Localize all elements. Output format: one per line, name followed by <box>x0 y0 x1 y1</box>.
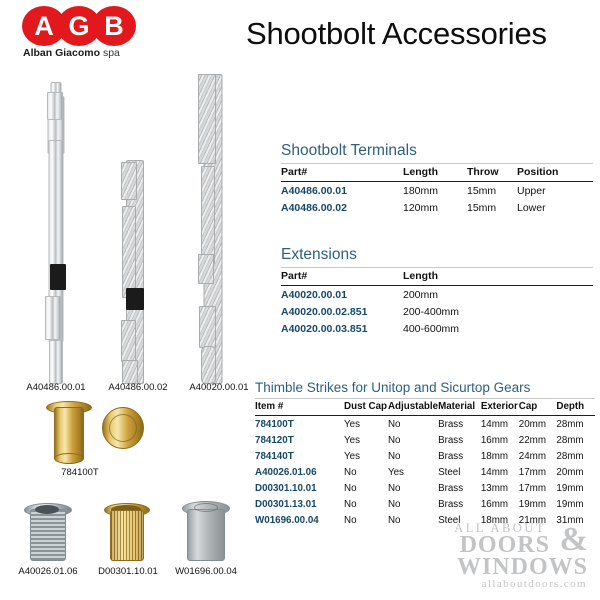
thimble-image-d00301 <box>104 503 148 561</box>
table-header-row: Part# Length Throw Position <box>281 164 593 182</box>
cell-position: Lower <box>517 199 593 216</box>
table-row: 784120T Yes No Brass 16mm 22mm 28mm <box>255 432 595 448</box>
agb-logo-tagline: Alban Giacomo spa <box>23 47 147 59</box>
cell-depth: 19mm <box>556 496 595 512</box>
cell-cap: 19mm <box>519 496 557 512</box>
cell-depth: 20mm <box>556 464 595 480</box>
cell-item: 784100T <box>255 416 344 433</box>
thimble-caption-784100t: 784100T <box>50 467 110 478</box>
watermark-ampersand: & <box>560 523 588 557</box>
table-row: 784140T Yes No Brass 18mm 24mm 28mm <box>255 448 595 464</box>
cell-adjustable: No <box>388 448 438 464</box>
cell-exterior: 14mm <box>481 416 519 433</box>
allaboutdoors-watermark: ALL ABOUT DOORS & WINDOWS allaboutdoors.… <box>414 520 590 592</box>
cell-depth: 28mm <box>556 448 595 464</box>
section-extensions: Extensions Part# Length A40020.00.01 200… <box>281 246 593 337</box>
cell-cap: 22mm <box>519 432 557 448</box>
table-row: D00301.13.01 No No Brass 16mm 19mm 19mm <box>255 496 595 512</box>
page-header: A G B Alban Giacomo spa Shootbolt Access… <box>0 0 600 68</box>
cell-partno: A40486.00.02 <box>281 199 403 216</box>
shootbolt-caption-2: A40486.00.02 <box>92 382 184 393</box>
agb-logo-letter-b: B <box>92 6 136 46</box>
cell-exterior: 14mm <box>481 464 519 480</box>
cell-dustcap: No <box>344 512 388 528</box>
thimble-image-784100t <box>46 401 90 463</box>
agb-tagline-bold: Alban Giacomo <box>23 47 100 59</box>
cell-adjustable: No <box>388 496 438 512</box>
table-row: A40486.00.01 180mm 15mm Upper <box>281 182 593 200</box>
cell-item: A40026.01.06 <box>255 464 344 480</box>
cell-adjustable: No <box>388 480 438 496</box>
cell-exterior: 16mm <box>481 432 519 448</box>
cell-adjustable: No <box>388 432 438 448</box>
shootbolt-image-1 <box>28 82 84 382</box>
cell-length: 200mm <box>403 286 593 304</box>
cell-length: 180mm <box>403 182 467 200</box>
cell-item: W01696.00.04 <box>255 512 344 528</box>
column-header-adjustable: Adjustable <box>388 399 438 416</box>
cell-dustcap: No <box>344 464 388 480</box>
cell-material: Brass <box>438 416 481 433</box>
column-header-throw: Throw <box>467 164 517 182</box>
cell-exterior: 13mm <box>481 480 519 496</box>
column-header-length: Length <box>403 164 467 182</box>
cell-material: Brass <box>438 448 481 464</box>
table-row: A40020.00.01 200mm <box>281 286 593 304</box>
cell-item: D00301.10.01 <box>255 480 344 496</box>
table-row: 784100T Yes No Brass 14mm 20mm 28mm <box>255 416 595 433</box>
table-row: A40026.01.06 No Yes Steel 14mm 17mm 20mm <box>255 464 595 480</box>
table-shootbolt-terminals: Part# Length Throw Position A40486.00.01… <box>281 163 593 216</box>
cell-material: Brass <box>438 496 481 512</box>
cell-throw: 15mm <box>467 199 517 216</box>
column-header-partno: Part# <box>281 164 403 182</box>
thimble-caption-a40026: A40026.01.06 <box>10 566 86 577</box>
thimble-caption-w01696: W01696.00.04 <box>168 566 244 577</box>
column-header-length: Length <box>403 268 593 286</box>
watermark-line-windows: WINDOWS <box>457 555 588 579</box>
cell-length: 120mm <box>403 199 467 216</box>
cell-cap: 17mm <box>519 480 557 496</box>
cell-exterior: 16mm <box>481 496 519 512</box>
cell-cap: 24mm <box>519 448 557 464</box>
shootbolt-figure-group: A40486.00.01 A40486.00.02 A40020.00.01 <box>10 70 255 390</box>
cell-adjustable: No <box>388 416 438 433</box>
cell-depth: 28mm <box>556 432 595 448</box>
column-header-material: Material <box>438 399 481 416</box>
cell-dustcap: Yes <box>344 448 388 464</box>
section-title-thimbles: Thimble Strikes for Unitop and Sicurtop … <box>255 380 595 395</box>
section-title-terminals: Shootbolt Terminals <box>281 142 593 160</box>
agb-logo: A G B Alban Giacomo spa <box>22 6 142 64</box>
cell-depth: 19mm <box>556 480 595 496</box>
column-header-depth: Depth <box>556 399 595 416</box>
shootbolt-image-2 <box>110 160 160 382</box>
cell-dustcap: Yes <box>344 416 388 433</box>
cell-throw: 15mm <box>467 182 517 200</box>
cell-length: 400-600mm <box>403 320 593 337</box>
section-title-extensions: Extensions <box>281 246 593 264</box>
agb-tagline-light: spa <box>103 47 120 59</box>
shootbolt-caption-1: A40486.00.01 <box>10 382 102 393</box>
cell-cap: 17mm <box>519 464 557 480</box>
table-header-row: Part# Length <box>281 268 593 286</box>
column-header-position: Position <box>517 164 593 182</box>
table-row: D00301.10.01 No No Brass 13mm 17mm 19mm <box>255 480 595 496</box>
cell-partno: A40020.00.02.851 <box>281 303 403 320</box>
thimble-caption-d00301: D00301.10.01 <box>90 566 166 577</box>
cell-dustcap: No <box>344 496 388 512</box>
column-header-item: Item # <box>255 399 344 416</box>
cell-length: 200-400mm <box>403 303 593 320</box>
page-title: Shootbolt Accessories <box>246 16 547 52</box>
cell-adjustable: Yes <box>388 464 438 480</box>
table-row: A40020.00.03.851 400-600mm <box>281 320 593 337</box>
column-header-exterior: Exterior <box>481 399 519 416</box>
section-thimble-strikes: Thimble Strikes for Unitop and Sicurtop … <box>255 380 595 528</box>
cell-partno: A40486.00.01 <box>281 182 403 200</box>
cell-material: Brass <box>438 432 481 448</box>
watermark-website: allaboutdoors.com <box>482 579 587 590</box>
shootbolt-image-3 <box>188 74 238 382</box>
cell-material: Brass <box>438 480 481 496</box>
cell-exterior: 18mm <box>481 448 519 464</box>
cell-position: Upper <box>517 182 593 200</box>
cell-item: D00301.13.01 <box>255 496 344 512</box>
cell-partno: A40020.00.03.851 <box>281 320 403 337</box>
cell-cap: 20mm <box>519 416 557 433</box>
agb-logo-circles: A G B <box>22 6 142 46</box>
column-header-cap: Cap <box>519 399 557 416</box>
table-thimble-strikes: Item # Dust Cap Adjustable Material Exte… <box>255 398 595 528</box>
table-row: A40020.00.02.851 200-400mm <box>281 303 593 320</box>
thimble-cap-image-784100t <box>102 407 142 447</box>
cell-item: 784120T <box>255 432 344 448</box>
cell-partno: A40020.00.01 <box>281 286 403 304</box>
cell-item: 784140T <box>255 448 344 464</box>
table-row: A40486.00.02 120mm 15mm Lower <box>281 199 593 216</box>
thimble-figure-group: 784100T A40026.01.06 D00301.10.01 W01696… <box>10 395 255 580</box>
cell-dustcap: No <box>344 480 388 496</box>
thimble-image-a40026 <box>24 503 70 561</box>
shootbolt-caption-3: A40020.00.01 <box>173 382 265 393</box>
table-header-row: Item # Dust Cap Adjustable Material Exte… <box>255 399 595 416</box>
cell-depth: 28mm <box>556 416 595 433</box>
thimble-image-w01696 <box>182 501 228 561</box>
section-shootbolt-terminals: Shootbolt Terminals Part# Length Throw P… <box>281 142 593 216</box>
column-header-partno: Part# <box>281 268 403 286</box>
cell-dustcap: Yes <box>344 432 388 448</box>
table-extensions: Part# Length A40020.00.01 200mm A40020.0… <box>281 267 593 337</box>
column-header-dustcap: Dust Cap <box>344 399 388 416</box>
cell-material: Steel <box>438 464 481 480</box>
